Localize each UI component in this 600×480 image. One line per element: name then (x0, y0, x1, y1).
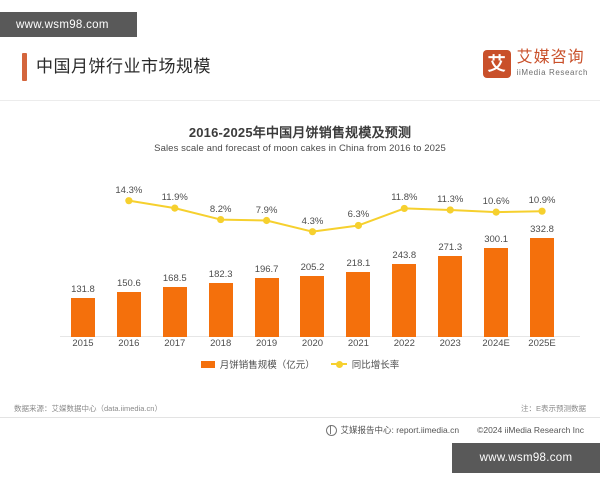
legend-bar-label: 月饼销售规模（亿元） (220, 357, 315, 371)
line-value-label: 11.3% (437, 194, 463, 205)
legend-bar-swatch-icon (201, 361, 215, 368)
line-value-label: 10.6% (483, 196, 510, 207)
x-axis-tick-label: 2015 (60, 338, 106, 349)
line-path (129, 201, 542, 232)
line-data-point[interactable] (125, 197, 132, 204)
x-axis-tick-label: 2025E (519, 338, 565, 349)
watermark-top: www.wsm98.com (0, 12, 137, 37)
line-value-label: 10.9% (529, 195, 556, 206)
line-value-label: 11.9% (162, 192, 188, 203)
line-data-point[interactable] (355, 222, 362, 229)
x-axis-tick-label: 2022 (381, 338, 427, 349)
globe-icon (326, 425, 337, 436)
footer-divider (0, 417, 600, 418)
x-axis-tick-label: 2024E (473, 338, 519, 349)
x-axis-tick-label: 2017 (152, 338, 198, 349)
line-value-label: 6.3% (348, 209, 370, 220)
page-header: 中国月饼行业市场规模 艾 艾媒咨询 iiMedia Research (0, 45, 600, 100)
report-center-link[interactable]: 艾媒报告中心: report.iimedia.cn (326, 424, 460, 436)
legend-line-swatch-icon (331, 360, 347, 368)
legend-item-line[interactable]: 同比增长率 (331, 357, 400, 371)
line-data-point[interactable] (538, 208, 545, 215)
x-axis-tick-label: 2018 (198, 338, 244, 349)
line-data-point[interactable] (217, 216, 224, 223)
x-axis-tick-label: 2023 (427, 338, 473, 349)
line-data-point[interactable] (263, 217, 270, 224)
report-center-label: 艾媒报告中心: report.iimedia.cn (341, 424, 460, 436)
x-axis-labels: 2015201620172018201920202021202220232024… (40, 338, 585, 354)
line-value-label: 4.3% (302, 216, 324, 227)
copyright-text: ©2024 iiMedia Research Inc (477, 425, 584, 435)
chart-subtitle: Sales scale and forecast of moon cakes i… (0, 143, 600, 154)
line-value-label: 14.3% (115, 185, 142, 196)
line-value-label: 11.8% (391, 192, 417, 203)
watermark-bottom: www.wsm98.com (452, 443, 600, 473)
line-data-point[interactable] (309, 228, 316, 235)
brand-text: 艾媒咨询 iiMedia Research (517, 50, 588, 77)
data-source-note: 数据来源：艾媒数据中心（data.iimedia.cn） (14, 403, 162, 414)
brand-name-en: iiMedia Research (517, 69, 588, 77)
title-accent-bar (22, 53, 27, 81)
watermark-bottom-text: www.wsm98.com (480, 452, 573, 464)
legend-line-label: 同比增长率 (352, 357, 400, 371)
line-data-point[interactable] (171, 205, 178, 212)
x-axis-tick-label: 2021 (335, 338, 381, 349)
forecast-note: 注：E表示预测数据 (521, 403, 586, 414)
brand-name-cn: 艾媒咨询 (517, 50, 588, 67)
x-axis-tick-label: 2019 (244, 338, 290, 349)
chart-plot-area: 131.8150.6168.5182.3196.7205.2218.1243.8… (40, 165, 585, 337)
watermark-top-text: www.wsm98.com (16, 19, 109, 31)
page-footer: 艾媒报告中心: report.iimedia.cn ©2024 iiMedia … (0, 419, 600, 441)
legend-item-bar[interactable]: 月饼销售规模（亿元） (201, 357, 315, 371)
line-data-point[interactable] (493, 209, 500, 216)
page-title: 中国月饼行业市场规模 (36, 54, 211, 80)
header-divider (0, 100, 600, 101)
line-value-label: 7.9% (256, 205, 278, 216)
x-axis-tick-label: 2016 (106, 338, 152, 349)
x-axis-tick-label: 2020 (290, 338, 336, 349)
chart-legend: 月饼销售规模（亿元） 同比增长率 (0, 357, 600, 371)
line-value-label: 8.2% (210, 204, 232, 215)
line-data-point[interactable] (447, 206, 454, 213)
line-data-point[interactable] (401, 205, 408, 212)
chart-title: 2016-2025年中国月饼销售规模及预测 (0, 122, 600, 141)
brand-logo: 艾 艾媒咨询 iiMedia Research (483, 50, 588, 78)
brand-mark-icon: 艾 (483, 50, 511, 78)
